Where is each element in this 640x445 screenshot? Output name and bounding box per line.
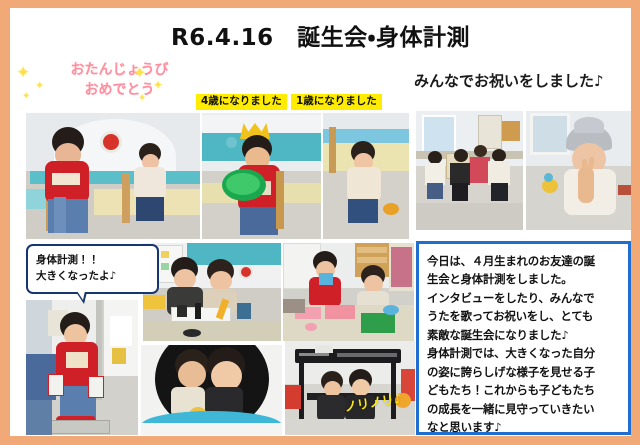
measurement-speech-bubble: 身体計測！！ 大きくなったよ♪ bbox=[26, 244, 159, 294]
age-tag-1: 1歳になりました bbox=[291, 94, 382, 110]
sparkle-icon: ✦ bbox=[153, 79, 163, 91]
photo-scale-measure bbox=[26, 300, 138, 435]
photo-group-interview bbox=[416, 111, 523, 230]
summary-textbox: 今日は、４月生まれのお友達の誕 生会と身体計測をしました。 インタビューをしたり… bbox=[416, 241, 631, 435]
sparkle-icon: ✦ bbox=[22, 92, 30, 102]
sparkle-icon: ✦ bbox=[138, 94, 146, 104]
birthday-greeting-line2: おめでとう bbox=[32, 82, 207, 100]
photo-toy-box-play bbox=[143, 243, 281, 341]
photo-silver-crown-peace bbox=[526, 111, 631, 230]
newsletter-sheet: R6.4.16 誕生会・身体計測 おたんじょうび おめでとう ✦ ✦ ✦ ✦ ✦… bbox=[10, 8, 631, 436]
summary-body: 今日は、４月生まれのお友達の誕 生会と身体計測をしました。 インタビューをしたり… bbox=[427, 252, 622, 437]
birthday-greeting: おたんじょうび おめでとう bbox=[32, 62, 207, 99]
photo-two-children-chairs bbox=[26, 113, 200, 239]
photo-seated-toddler bbox=[323, 113, 409, 239]
speech-bubble-line1: 身体計測！！ bbox=[36, 252, 150, 268]
photo-clay-play bbox=[283, 243, 414, 341]
celebration-note: みんなでお祝いをしました♪ bbox=[414, 72, 604, 91]
page-title: R6.4.16 誕生会・身体計測 bbox=[10, 18, 631, 52]
speech-bubble-line2: 大きくなったよ♪ bbox=[36, 268, 150, 284]
sparkle-icon: ✦ bbox=[35, 80, 44, 91]
sparkle-icon: ✦ bbox=[133, 65, 146, 81]
age-tag-4: 4歳になりました bbox=[196, 94, 287, 110]
photo-tunnel-smile bbox=[141, 345, 282, 435]
newsletter-page: R6.4.16 誕生会・身体計測 おたんじょうび おめでとう ✦ ✦ ✦ ✦ ✦… bbox=[0, 0, 640, 445]
birthday-greeting-line1: おたんじょうび bbox=[71, 62, 169, 78]
sparkle-icon: ✦ bbox=[16, 65, 30, 82]
speech-bubble-tail-inner bbox=[77, 291, 85, 300]
photo-crown-balloon bbox=[202, 113, 321, 239]
